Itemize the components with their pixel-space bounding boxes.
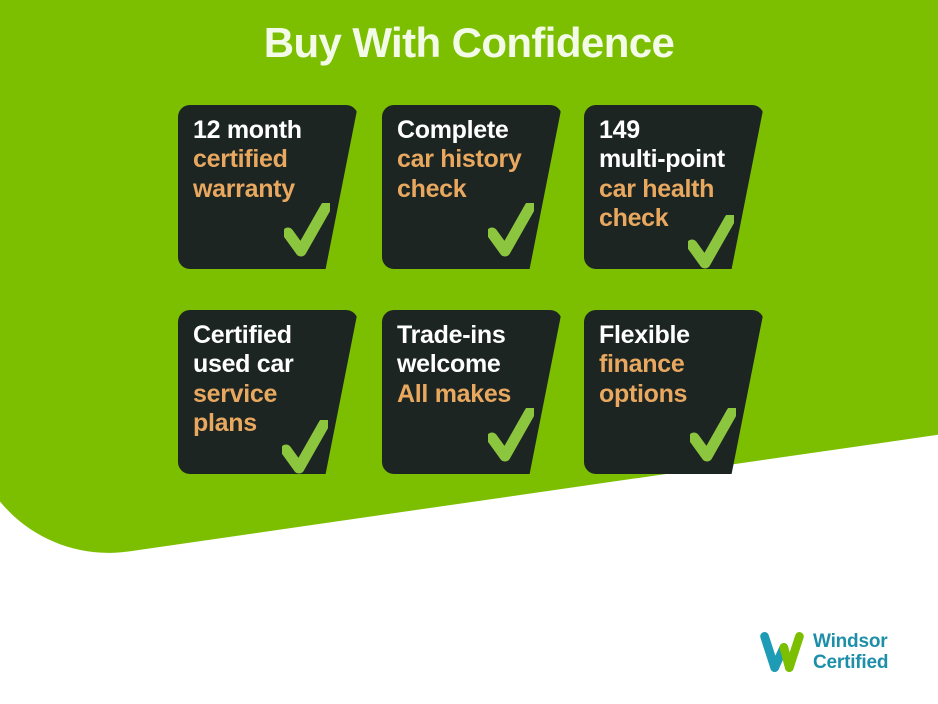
logo-line-2: Certified [813, 652, 888, 673]
check-icon [282, 420, 328, 474]
card-line-orange: check [397, 175, 532, 204]
feature-card-grid: 12 month certified warranty Complete car… [178, 105, 758, 477]
feature-card-flexible-finance-options[interactable]: Flexible finance options [584, 310, 764, 474]
card-line-orange: certified [193, 145, 328, 174]
brand-logo[interactable]: Windsor Certified [760, 624, 930, 680]
check-icon [488, 408, 534, 464]
card-inner: 149 multi-point car health check [584, 105, 764, 269]
card-line-white: 149 [599, 116, 734, 145]
card-line-orange: car history [397, 145, 532, 174]
card-line-white: Certified [193, 321, 328, 350]
card-line-orange: finance [599, 350, 734, 379]
check-icon [690, 408, 736, 464]
card-inner: 12 month certified warranty [178, 105, 358, 269]
card-text: Complete car history check [397, 116, 532, 204]
feature-card-trade-ins-welcome-all-makes[interactable]: Trade-ins welcome All makes [382, 310, 562, 474]
check-icon [284, 203, 330, 259]
card-text: 12 month certified warranty [193, 116, 328, 204]
card-line-white: Trade-ins [397, 321, 532, 350]
card-inner: Complete car history check [382, 105, 562, 269]
logo-wordmark: Windsor Certified [813, 631, 888, 674]
card-inner: Certified used car service plans [178, 310, 358, 474]
page-title: Buy With Confidence [0, 19, 938, 67]
feature-card-complete-car-history-check[interactable]: Complete car history check [382, 105, 562, 269]
card-line-white: welcome [397, 350, 532, 379]
card-line-orange: options [599, 380, 734, 409]
check-icon [688, 215, 734, 269]
feature-card-12-month-certified-warranty[interactable]: 12 month certified warranty [178, 105, 358, 269]
card-inner: Trade-ins welcome All makes [382, 310, 562, 474]
card-line-orange: All makes [397, 380, 532, 409]
card-inner: Flexible finance options [584, 310, 764, 474]
check-icon [488, 203, 534, 259]
card-line-white: Complete [397, 116, 532, 145]
feature-card-149-multi-point-car-health-check[interactable]: 149 multi-point car health check [584, 105, 764, 269]
card-line-orange: car health [599, 175, 734, 204]
card-line-orange: service [193, 380, 328, 409]
card-line-white: 12 month [193, 116, 328, 145]
card-text: Trade-ins welcome All makes [397, 321, 532, 409]
card-line-orange: warranty [193, 175, 328, 204]
card-text: Flexible finance options [599, 321, 734, 409]
card-line-white: Flexible [599, 321, 734, 350]
card-line-white: multi-point [599, 145, 734, 174]
feature-card-certified-used-car-service-plans[interactable]: Certified used car service plans [178, 310, 358, 474]
windsor-w-icon [760, 630, 804, 674]
logo-line-1: Windsor [813, 631, 888, 652]
promo-banner: Buy With Confidence 12 month certified w… [0, 0, 938, 704]
card-line-white: used car [193, 350, 328, 379]
